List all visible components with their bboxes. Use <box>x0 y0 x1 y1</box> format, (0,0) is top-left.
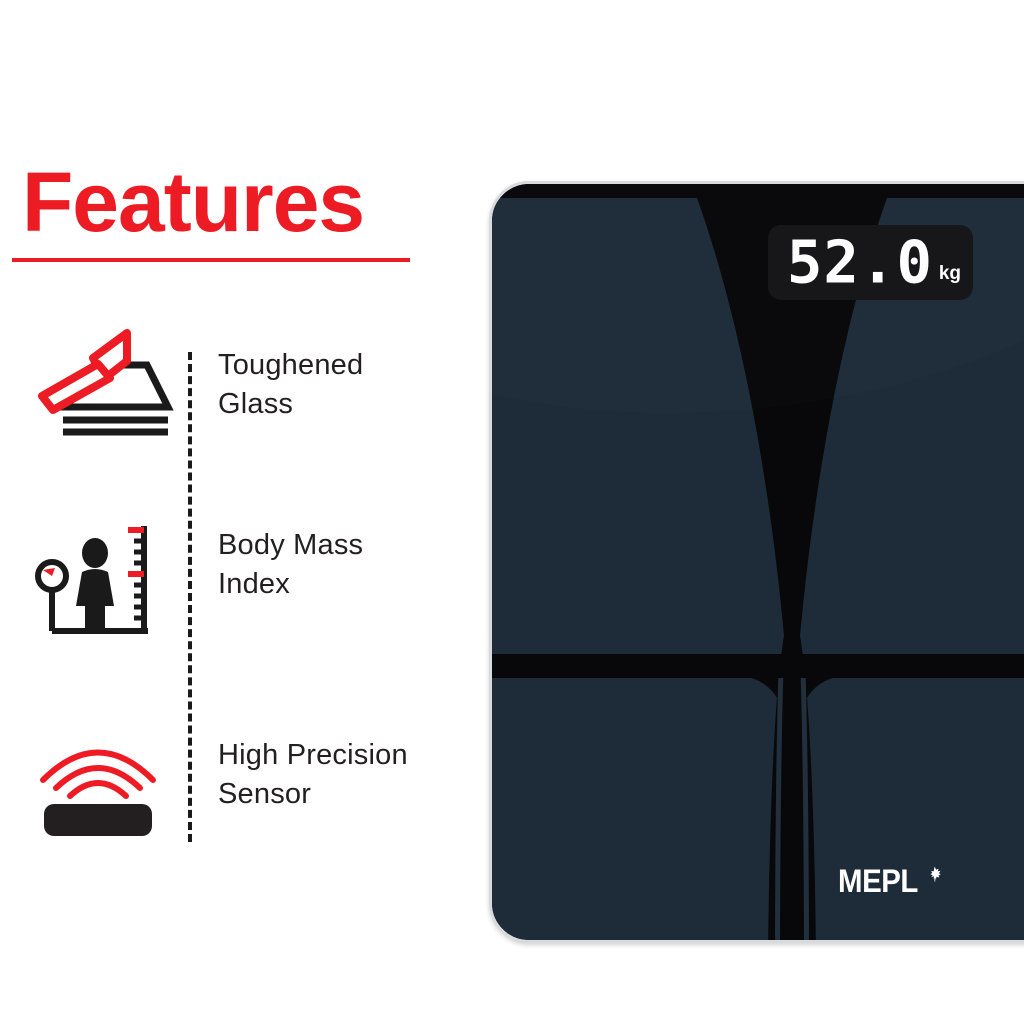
feature-label-body-mass-index: Body Mass Index <box>218 526 458 603</box>
precision-sensor-waves-icon <box>30 718 180 848</box>
feature-item-toughened-glass: Toughened Glass <box>0 328 470 478</box>
feature-label-line-2: Sensor <box>218 775 458 814</box>
product-image-digital-scale: 52.0 kg MEPL <box>489 181 1024 943</box>
brand-name-text: MEPL <box>838 865 918 897</box>
feature-label-line-1: High Precision <box>218 736 458 775</box>
feature-label-toughened-glass: Toughened Glass <box>218 346 458 423</box>
maple-leaf-icon <box>927 866 942 886</box>
feature-label-line-2: Index <box>218 565 458 604</box>
body-mass-index-icon <box>30 508 180 638</box>
page-title: Features <box>22 160 364 244</box>
feature-label-line-2: Glass <box>218 385 458 424</box>
weight-reading-value: 52.0 <box>787 232 933 291</box>
feature-item-high-precision-sensor: High Precision Sensor <box>0 718 470 868</box>
feature-label-line-1: Toughened <box>218 346 458 385</box>
feature-label-line-1: Body Mass <box>218 526 458 565</box>
feature-item-body-mass-index: Body Mass Index <box>0 508 470 658</box>
feature-label-high-precision-sensor: High Precision Sensor <box>218 736 458 813</box>
lcd-display-panel: 52.0 kg <box>768 225 973 300</box>
features-panel: Features Toughened Glass <box>0 0 470 1024</box>
hammer-tempered-glass-icon <box>30 328 180 458</box>
weight-unit-label: kg <box>939 264 961 283</box>
brand-logo: MEPL <box>838 865 942 897</box>
title-underline <box>12 258 410 262</box>
